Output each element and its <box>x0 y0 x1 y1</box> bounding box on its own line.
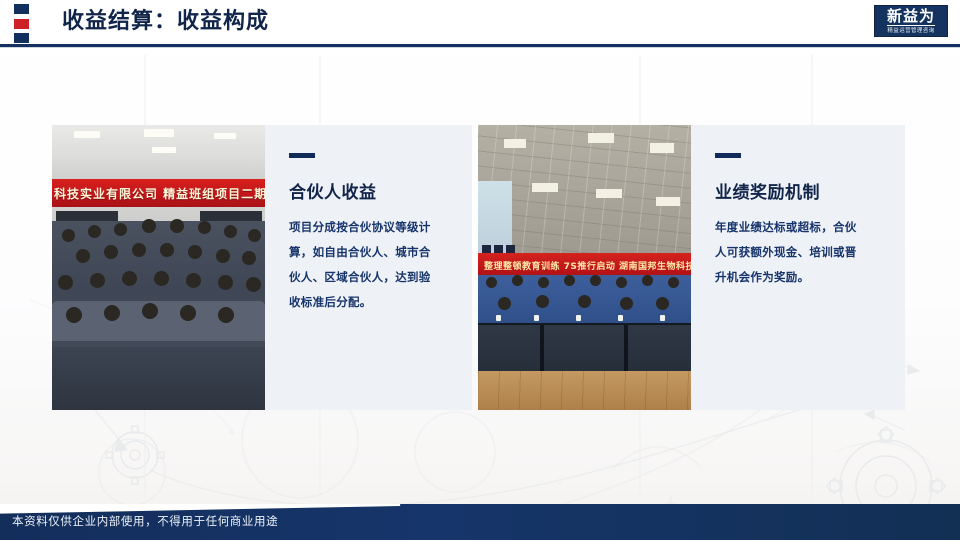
card-body-reward: 年度业绩达标或超标，合伙人可获额外现金、培训或晋升机会作为奖励。 <box>715 215 867 290</box>
brand-logo-name: 新益为 <box>887 8 935 24</box>
photo1-person-head <box>170 219 184 233</box>
photo1-floor-shadow <box>52 347 265 410</box>
content-card-partner-earnings: 科技实业有限公司 精益班组项目二期 <box>52 125 472 410</box>
photo2-cup <box>496 315 501 321</box>
photo1-person-head <box>224 225 237 238</box>
photo1-banner-text: 科技实业有限公司 精益班组项目二期 <box>52 185 265 202</box>
photo2-person-head <box>512 275 523 286</box>
photo2-person-head <box>536 295 549 308</box>
photo2-cup <box>660 315 665 321</box>
card-body-partner: 项目分成按合伙协议等级计算，如自由合伙人、城市合伙人、区域合伙人，达到验收标准后… <box>289 215 439 315</box>
photo2-person-head <box>656 297 669 310</box>
card-title-partner: 合伙人收益 <box>289 178 450 203</box>
photo2-ceiling-light-3 <box>650 143 674 153</box>
brand-logo-tagline: 精益运营管理咨询 <box>887 25 934 35</box>
photo2-ceiling-light-2 <box>588 133 614 143</box>
slide-footer: 本资料仅供企业内部使用，不得用于任何商业用途 <box>0 504 960 540</box>
photo1-person-head <box>198 221 211 234</box>
photo1-person-head <box>216 249 230 263</box>
photo1-person-head <box>218 307 234 323</box>
photo2-banner-text: 整理整顿教育训练 7S推行启动 湖南国邦生物科技有限公司 <box>484 259 691 272</box>
photo2-cup <box>618 315 623 321</box>
photo2-ceiling-light-1 <box>504 139 526 148</box>
photo2-person-head <box>590 275 601 286</box>
accent-square-navy-bottom <box>14 33 29 43</box>
brand-logo: 新益为 精益运营管理咨询 <box>874 5 948 37</box>
photo1-person-head <box>186 273 201 288</box>
conference-room-photo: 整理整顿教育训练 7S推行启动 湖南国邦生物科技有限公司 永远感 <box>478 125 691 410</box>
slide-header: 收益结算：收益构成 新益为 精益运营管理咨询 <box>0 0 960 47</box>
photo2-floor-planks <box>478 371 691 410</box>
photo2-person-head <box>578 295 591 308</box>
accent-square-navy-top <box>14 4 29 14</box>
photo1-person-head <box>132 243 146 257</box>
photo1-person-head <box>242 251 256 265</box>
photo2-ceiling-light-4 <box>532 183 558 192</box>
photo1-person-head <box>122 271 137 286</box>
header-accent-marks <box>14 4 30 43</box>
photo1-person-head <box>58 275 73 290</box>
page-title: 收益结算：收益构成 <box>62 5 269 39</box>
photo1-light-4 <box>214 133 236 139</box>
slide-content: 科技实业有限公司 精益班组项目二期 <box>0 47 960 505</box>
photo1-light-2 <box>144 129 174 137</box>
group-photo-team: 科技实业有限公司 精益班组项目二期 <box>52 125 265 410</box>
photo2-ceiling-light-5 <box>596 189 622 198</box>
photo2-cup <box>534 315 539 321</box>
card-text-panel-reward: 业绩奖励机制 年度业绩达标或超标，合伙人可获额外现金、培训或晋升机会作为奖励。 <box>691 125 905 410</box>
photo1-person-head <box>76 249 90 263</box>
photo2-person-head <box>616 277 627 288</box>
photo1-person-head <box>62 229 75 242</box>
header-divider <box>0 44 960 47</box>
photo1-seated-row <box>52 301 265 341</box>
photo2-person-head <box>564 275 575 286</box>
photo2-person-head <box>620 297 633 310</box>
photo1-person-head <box>218 275 233 290</box>
photo1-person-head <box>142 219 156 233</box>
photo1-person-head <box>90 273 105 288</box>
photo1-person-head <box>248 229 261 242</box>
photo1-person-head <box>142 303 158 319</box>
photo1-person-head <box>104 305 120 321</box>
photo2-person-head <box>538 277 549 288</box>
photo2-table <box>478 325 691 373</box>
photo1-red-banner: 科技实业有限公司 精益班组项目二期 <box>52 179 265 207</box>
photo1-person-head <box>114 223 127 236</box>
photo1-person-head <box>160 243 174 257</box>
photo1-person-head <box>104 245 118 259</box>
photo2-person-head <box>642 275 653 286</box>
photo2-cup <box>576 315 581 321</box>
photo1-person-head <box>246 277 261 292</box>
card-text-panel-partner: 合伙人收益 项目分成按合伙协议等级计算，如自由合伙人、城市合伙人、区域合伙人，达… <box>265 125 472 410</box>
photo2-person-head <box>486 277 497 288</box>
photo1-light-3 <box>152 147 176 153</box>
photo1-person-head <box>188 245 202 259</box>
card-accent-dash <box>715 153 741 158</box>
photo1-person-head <box>154 271 169 286</box>
card-title-reward: 业绩奖励机制 <box>715 178 883 203</box>
accent-square-red <box>14 19 29 29</box>
photo1-light-1 <box>74 131 100 138</box>
photo2-person-head <box>668 277 679 288</box>
content-card-performance-reward: 整理整顿教育训练 7S推行启动 湖南国邦生物科技有限公司 永远感 <box>478 125 905 410</box>
photo2-ceiling-light-6 <box>656 197 680 206</box>
photo2-person-head <box>498 297 511 310</box>
photo1-person-head <box>180 305 196 321</box>
footer-disclaimer: 本资料仅供企业内部使用，不得用于任何商业用途 <box>12 513 278 529</box>
card-accent-dash <box>289 153 315 158</box>
photo1-person-head <box>66 307 82 323</box>
photo1-person-head <box>88 225 101 238</box>
